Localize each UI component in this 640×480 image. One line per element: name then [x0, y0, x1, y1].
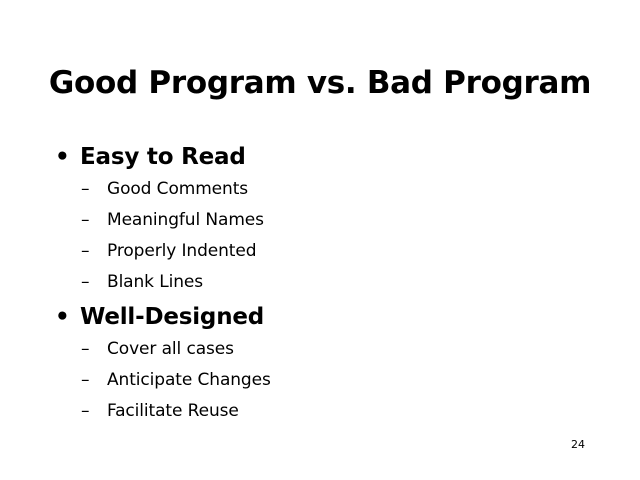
- bullet-level2-label: Cover all cases: [107, 339, 234, 359]
- bullet-dash-icon: –: [81, 205, 103, 236]
- bullet-level2-label: Anticipate Changes: [107, 370, 271, 390]
- bullet-dash-icon: –: [81, 334, 103, 365]
- bullet-level1-label: Easy to Read: [80, 144, 246, 170]
- bullet-dot-icon: •: [55, 141, 75, 174]
- bullet-level1-label: Well-Designed: [80, 304, 264, 330]
- bullet-level2: – Anticipate Changes: [0, 365, 640, 396]
- bullet-dash-icon: –: [81, 365, 103, 396]
- bullet-level2: – Cover all cases: [0, 334, 640, 365]
- bullet-level1: • Easy to Read: [0, 141, 640, 174]
- page-number: 24: [571, 438, 585, 452]
- bullet-dash-icon: –: [81, 174, 103, 205]
- bullet-level1: • Well-Designed: [0, 301, 640, 334]
- bullet-level2: – Meaningful Names: [0, 205, 640, 236]
- bullet-level2-label: Good Comments: [107, 179, 248, 199]
- bullet-level2: – Blank Lines: [0, 267, 640, 298]
- bullet-level2-label: Blank Lines: [107, 272, 203, 292]
- bullet-level2: – Properly Indented: [0, 236, 640, 267]
- bullet-dot-icon: •: [55, 301, 75, 334]
- bullet-dash-icon: –: [81, 396, 103, 427]
- bullet-level2: – Good Comments: [0, 174, 640, 205]
- bullet-dash-icon: –: [81, 267, 103, 298]
- bullet-level2-label: Facilitate Reuse: [107, 401, 239, 421]
- bullet-dash-icon: –: [81, 236, 103, 267]
- page-title: Good Program vs. Bad Program: [0, 64, 640, 102]
- outline-body: • Easy to Read – Good Comments – Meaning…: [0, 141, 640, 427]
- bullet-level2: – Facilitate Reuse: [0, 396, 640, 427]
- slide-canvas: Good Program vs. Bad Program • Easy to R…: [0, 0, 640, 480]
- bullet-level2-label: Properly Indented: [107, 241, 256, 261]
- bullet-level2-label: Meaningful Names: [107, 210, 264, 230]
